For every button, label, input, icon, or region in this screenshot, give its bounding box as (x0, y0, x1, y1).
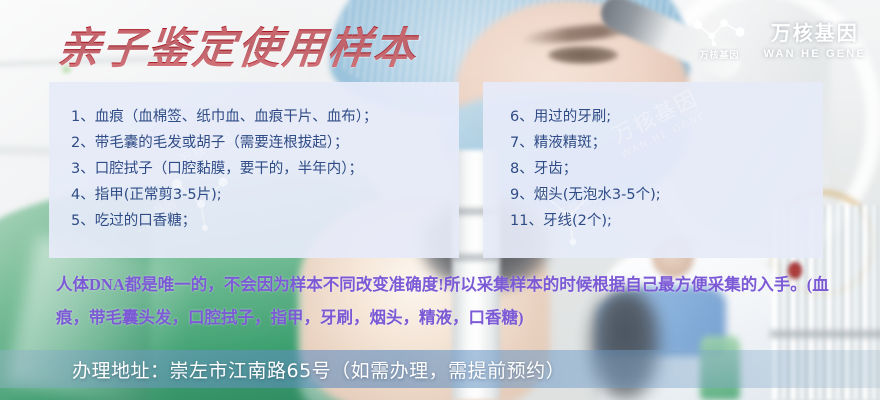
brand-name-cn: 万核基因 (771, 17, 859, 46)
list-item: 4、指甲(正常剪3-5片); (71, 182, 459, 208)
poster-canvas: 亲子鉴定使用样本 (0, 0, 880, 400)
list-item: 8、牙齿； (510, 156, 823, 182)
logo-wordmark: 万核基因 WAN HE GENE (764, 17, 866, 60)
molecule-dna-icon (690, 16, 750, 46)
list-item: 9、烟头(无泡水3-5个); (510, 182, 823, 208)
logo-mark-label: 万核基因 (700, 48, 740, 61)
brand-logo: 万核基因 万核基因 WAN HE GENE (690, 16, 866, 61)
logo-mark: 万核基因 (690, 16, 750, 61)
address-text: 办理地址：崇左市江南路65号（如需办理，需提前预约） (72, 356, 565, 383)
page-title: 亲子鉴定使用样本 (55, 14, 422, 76)
sample-list-left: 1、血痕（血棉签、纸巾血、血痕干片、血布）； 2、带毛囊的毛发或胡子（需要连根拔… (49, 82, 459, 234)
explanation-paragraph: 人体DNA都是唯一的，不会因为样本不同改变准确度!所以采集样本的时候根据自己最方… (56, 268, 846, 334)
brand-name-en: WAN HE GENE (764, 48, 866, 60)
list-item: 3、口腔拭子（口腔黏膜，要干的，半年内）； (71, 156, 459, 182)
list-item: 5、吃过的口香糖； (71, 208, 459, 234)
list-item: 11、牙线(2个); (510, 208, 823, 234)
list-item: 6、用过的牙刷; (510, 104, 823, 130)
list-item: 7、精液精斑； (510, 130, 823, 156)
list-item: 2、带毛囊的毛发或胡子（需要连根拔起）； (71, 130, 459, 156)
sample-list-right: 6、用过的牙刷; 7、精液精斑； 8、牙齿； 9、烟头(无泡水3-5个); 11… (483, 82, 823, 234)
sample-list-panel-right: 万核基因 WAN HE GENE 万核基因 WAN HE GENE 6、用过的牙… (483, 82, 823, 258)
sample-list-panel-left: 万核基因 WAN HE GENE 万核基因 WAN HE GENE 1、血痕（血… (49, 82, 459, 258)
list-item: 1、血痕（血棉签、纸巾血、血痕干片、血布）； (71, 104, 459, 130)
